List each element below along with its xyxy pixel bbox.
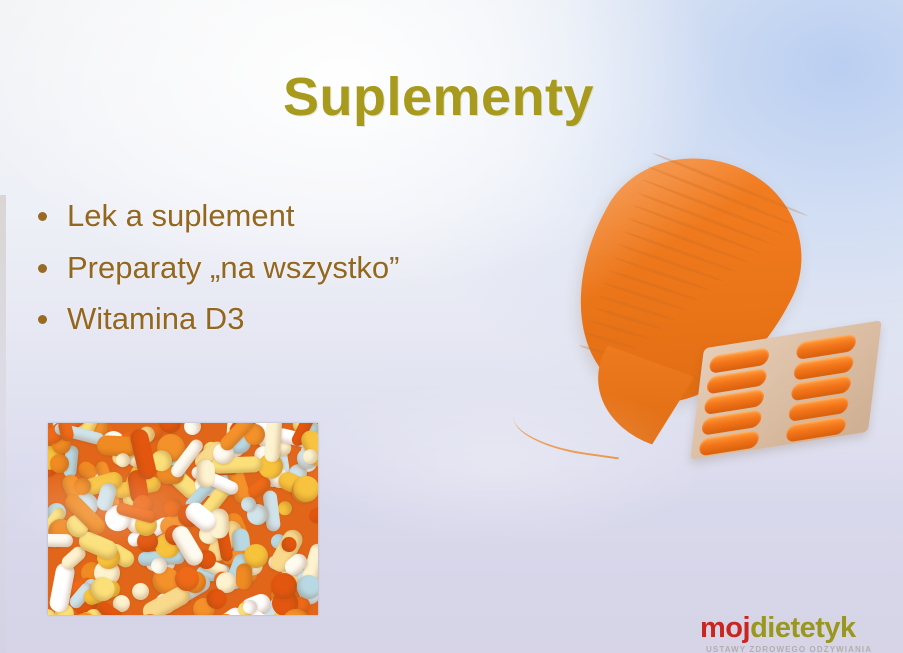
pills-photo: [48, 423, 318, 615]
carrot-ridge-line: [603, 281, 688, 311]
screen-edge-strip-bottom: [0, 195, 6, 653]
carrot-ridge-line: [642, 178, 785, 236]
bullet-text: Witamina D3: [67, 299, 244, 339]
pill-shape: [182, 423, 202, 437]
logo-tagline: USTAWY ZDROWEGO ODZYWIANIA: [706, 645, 872, 653]
pill-shape: [197, 459, 215, 488]
carrot-root-shape: [510, 405, 624, 460]
logo-mojdietetyk: mojdietetyk: [700, 612, 856, 645]
list-item: Witamina D3: [38, 299, 508, 339]
bullet-dot-icon: [38, 212, 47, 221]
presentation-slide: Suplementy Lek a suplement Preparaty „na…: [0, 0, 903, 653]
carrot-ridge-line: [607, 269, 699, 302]
bullet-dot-icon: [38, 264, 47, 273]
bullet-list: Lek a suplement Preparaty „na wszystko” …: [38, 196, 508, 351]
pill-shape: [278, 501, 293, 516]
bullet-text: Preparaty „na wszystko”: [67, 248, 400, 288]
bullet-dot-icon: [38, 315, 47, 324]
pill-shape: [130, 581, 151, 602]
slide-title: Suplementy: [283, 66, 594, 128]
pill-shape: [235, 562, 252, 589]
carrot-capsules-photo: [520, 140, 890, 460]
carrot-ridge-line: [637, 191, 773, 245]
screen-edge-strip-top: [0, 0, 7, 205]
bullet-text: Lek a suplement: [67, 196, 294, 236]
carrot-ridge-line: [598, 294, 675, 321]
list-item: Preparaty „na wszystko”: [38, 248, 508, 288]
logo-text-dietetyk: dietetyk: [750, 612, 856, 644]
carrot-ridge-line: [593, 307, 663, 331]
pill-shape: [48, 533, 74, 547]
carrot-ridge-line: [632, 204, 761, 254]
list-item: Lek a suplement: [38, 196, 508, 236]
logo-text-moj: moj: [700, 612, 750, 644]
